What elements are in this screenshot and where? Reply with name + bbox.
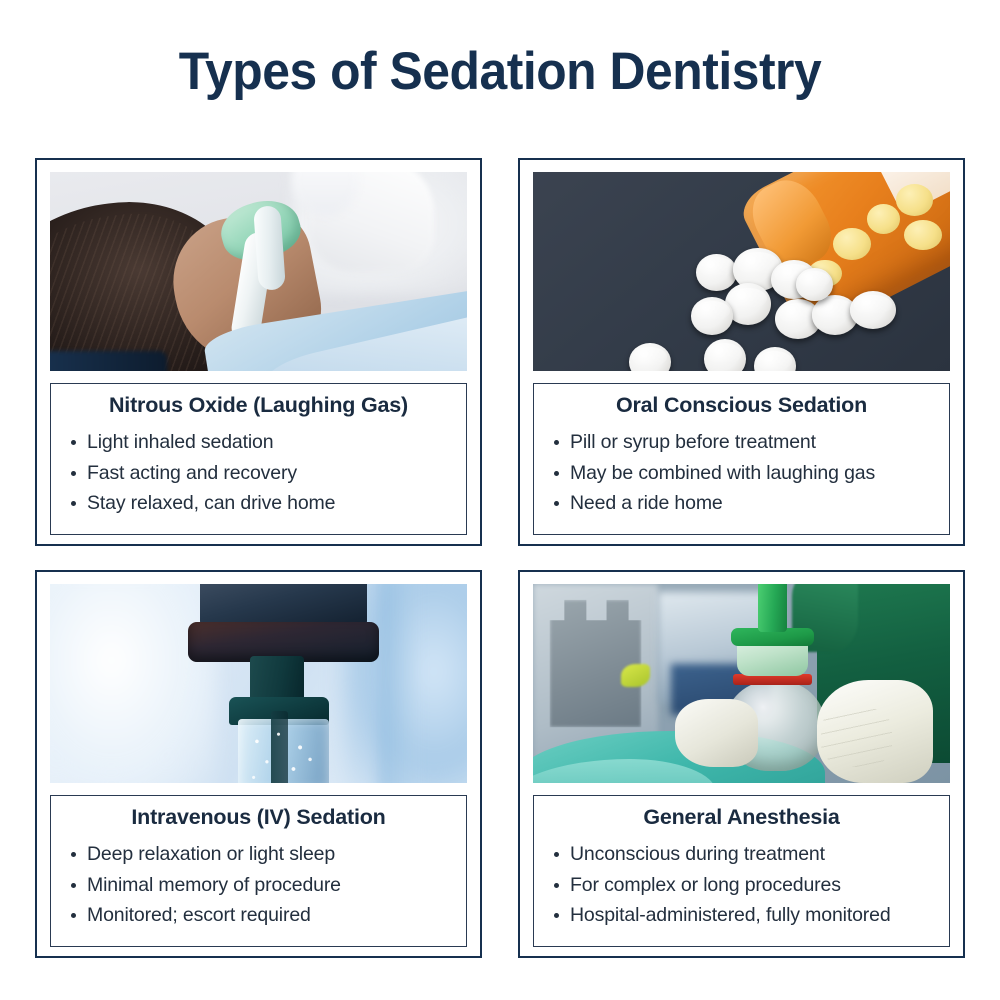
card-heading: General Anesthesia <box>544 805 939 831</box>
photo-gloved-hand-left <box>675 699 758 767</box>
photo-white-pill <box>696 254 738 292</box>
card-image-oral-sedation <box>533 172 950 371</box>
photo-white-pill <box>691 297 733 335</box>
list-item: Pill or syrup before treatment <box>570 427 939 458</box>
card-image-general-anesthesia <box>533 584 950 783</box>
photo-chair-shadow <box>50 351 167 371</box>
page-title: Types of Sedation Dentistry <box>30 44 970 100</box>
photo-yellow-pill <box>867 204 900 234</box>
photo-yellow-pill <box>896 184 934 216</box>
sedation-types-grid: Nitrous Oxide (Laughing Gas) Light inhal… <box>35 158 965 958</box>
card-bullet-list: Pill or syrup before treatment May be co… <box>544 427 939 519</box>
card-heading: Oral Conscious Sedation <box>544 393 939 419</box>
photo-green-connector <box>758 584 787 632</box>
card-bullet-list: Light inhaled sedation Fast acting and r… <box>61 427 456 519</box>
list-item: Deep relaxation or light sleep <box>87 839 456 870</box>
card-textbox-iv-sedation: Intravenous (IV) Sedation Deep relaxatio… <box>50 795 467 947</box>
list-item: May be combined with laughing gas <box>570 458 939 489</box>
card-oral-conscious-sedation: Oral Conscious Sedation Pill or syrup be… <box>518 158 965 546</box>
photo-iv-droplets <box>242 727 325 783</box>
list-item: Need a ride home <box>570 488 939 519</box>
photo-white-pill <box>850 291 896 329</box>
card-bullet-list: Deep relaxation or light sleep Minimal m… <box>61 839 456 931</box>
card-textbox-general-anesthesia: General Anesthesia Unconscious during tr… <box>533 795 950 947</box>
photo-background-bar <box>379 584 417 783</box>
infographic-page: Types of Sedation Dentistry Nitrous Oxid… <box>0 0 1000 1000</box>
card-heading: Nitrous Oxide (Laughing Gas) <box>61 393 456 419</box>
card-nitrous-oxide: Nitrous Oxide (Laughing Gas) Light inhal… <box>35 158 482 546</box>
photo-yellow-pill <box>833 228 871 260</box>
list-item: Unconscious during treatment <box>570 839 939 870</box>
photo-yellow-pill <box>904 220 942 250</box>
list-item: Minimal memory of procedure <box>87 870 456 901</box>
list-item: Monitored; escort required <box>87 900 456 931</box>
list-item: Fast acting and recovery <box>87 458 456 489</box>
card-image-iv-sedation <box>50 584 467 783</box>
photo-white-pill <box>629 343 671 371</box>
card-image-nitrous-oxide <box>50 172 467 371</box>
card-bullet-list: Unconscious during treatment For complex… <box>544 839 939 931</box>
card-general-anesthesia: General Anesthesia Unconscious during tr… <box>518 570 965 958</box>
photo-white-pill <box>754 347 796 371</box>
card-textbox-oral-sedation: Oral Conscious Sedation Pill or syrup be… <box>533 383 950 535</box>
photo-white-pill <box>704 339 746 371</box>
photo-glove-fingers <box>821 707 892 767</box>
photo-left-bokeh <box>50 584 217 783</box>
list-item: Light inhaled sedation <box>87 427 456 458</box>
page-title-container: Types of Sedation Dentistry <box>0 44 1000 100</box>
card-heading: Intravenous (IV) Sedation <box>61 805 456 831</box>
card-textbox-nitrous-oxide: Nitrous Oxide (Laughing Gas) Light inhal… <box>50 383 467 535</box>
list-item: Stay relaxed, can drive home <box>87 488 456 519</box>
list-item: Hospital-administered, fully monitored <box>570 900 939 931</box>
card-iv-sedation: Intravenous (IV) Sedation Deep relaxatio… <box>35 570 482 958</box>
list-item: For complex or long procedures <box>570 870 939 901</box>
